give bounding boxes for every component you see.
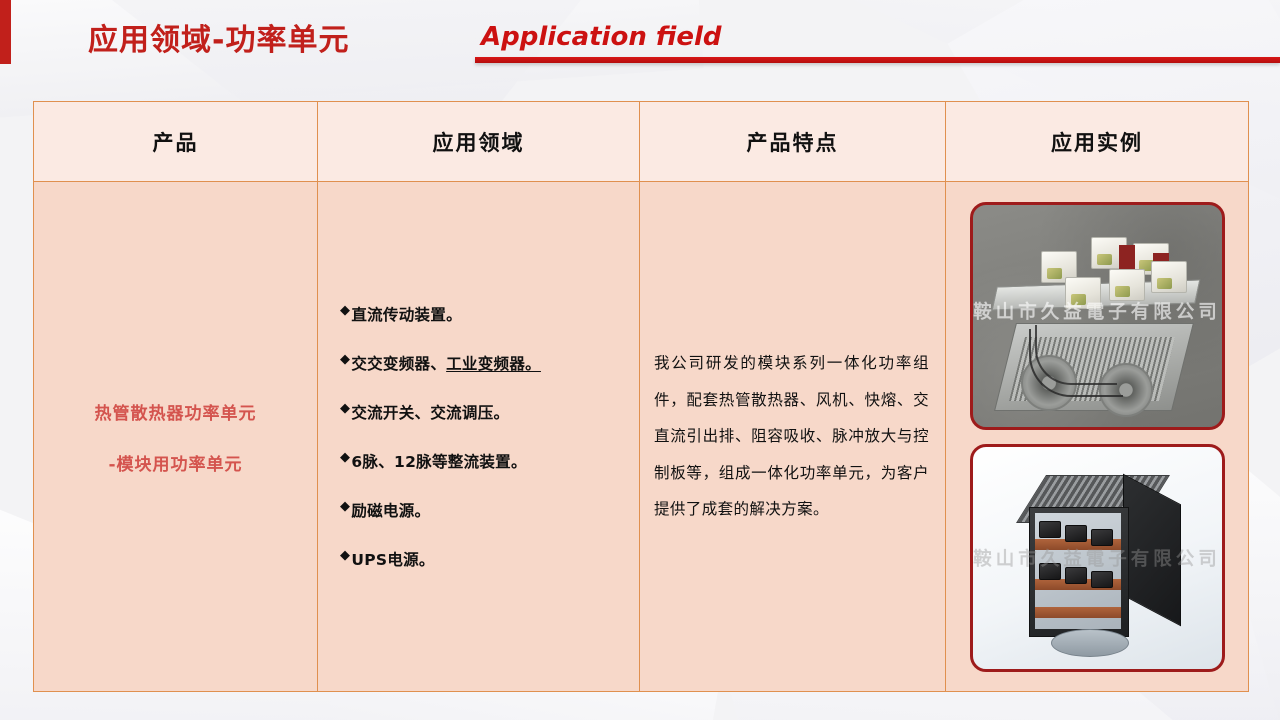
column-header-label: 产品	[34, 102, 317, 181]
table-cell-application-examples: 鞍山市久益電子有限公司 鞍山市久益	[945, 182, 1248, 691]
power-module-shape	[1039, 563, 1061, 580]
column-header-label: 产品特点	[640, 102, 945, 181]
list-item-text: 交交变频器、	[351, 352, 446, 374]
header-underline-rule	[475, 57, 1280, 63]
table-header-cell-features: 产品特点	[639, 102, 945, 181]
list-item: ◆ 励磁电源。	[340, 499, 639, 521]
list-item: ◆ 直流传动装置。	[340, 303, 639, 325]
list-item: ◆ UPS电源。	[340, 548, 639, 570]
list-item: ◆ 交交变频器、 工业变频器。	[340, 352, 639, 374]
page-title-chinese: 应用领域-功率单元	[88, 15, 349, 59]
power-module-shape	[1065, 567, 1087, 584]
table-cell-application-field: ◆ 直流传动装置。 ◆ 交交变频器、 工业变频器。 ◆ 交流开关、交流调压。 ◆…	[317, 182, 639, 691]
diamond-bullet-icon: ◆	[340, 450, 350, 466]
column-header-label: 应用领域	[318, 102, 639, 181]
application-field-table: 产品 应用领域 产品特点 应用实例 热管散热器功率单元 -模块用功率单元 ◆ 直…	[33, 101, 1249, 692]
table-header-cell-examples: 应用实例	[945, 102, 1248, 181]
fuse-module-shape	[1065, 277, 1101, 309]
power-module-shape	[1065, 525, 1087, 542]
column-header-label: 应用实例	[946, 102, 1248, 181]
list-item-text: 6脉、12脉等整流装置。	[351, 450, 526, 472]
fan-base-shape	[1051, 629, 1129, 657]
list-item: ◆ 6脉、12脉等整流装置。	[340, 450, 639, 472]
table-cell-product-features: 我公司研发的模块系列一体化功率组件，配套热管散热器、风机、快熔、交直流引出排、阻…	[639, 182, 945, 691]
product-features-paragraph: 我公司研发的模块系列一体化功率组件，配套热管散热器、风机、快熔、交直流引出排、阻…	[640, 345, 945, 527]
capacitor-block-shape	[1119, 245, 1135, 271]
power-module-shape	[1091, 571, 1113, 588]
example-photo-power-unit-assembly: 鞍山市久益電子有限公司	[970, 202, 1225, 430]
list-item: ◆ 交流开关、交流调压。	[340, 401, 639, 423]
page-title-english: Application field	[481, 22, 722, 52]
list-item-text: UPS电源。	[351, 548, 434, 570]
example-render-module-power-unit: 鞍山市久益電子有限公司	[970, 444, 1225, 672]
table-header-cell-field: 应用领域	[317, 102, 639, 181]
diamond-bullet-icon: ◆	[340, 499, 350, 515]
header-accent-bar	[0, 0, 11, 64]
table-body-row: 热管散热器功率单元 -模块用功率单元 ◆ 直流传动装置。 ◆ 交交变频器、 工业…	[34, 182, 1248, 691]
application-bullet-list: ◆ 直流传动装置。 ◆ 交交变频器、 工业变频器。 ◆ 交流开关、交流调压。 ◆…	[318, 182, 639, 691]
list-item-text-underlined: 工业变频器。	[446, 352, 541, 374]
diamond-bullet-icon: ◆	[340, 401, 350, 417]
list-item-text: 直流传动装置。	[351, 303, 462, 325]
table-header-row: 产品 应用领域 产品特点 应用实例	[34, 102, 1248, 182]
diamond-bullet-icon: ◆	[340, 352, 350, 368]
list-item-text: 励磁电源。	[351, 499, 430, 521]
list-item-text: 交流开关、交流调压。	[351, 401, 509, 423]
power-module-shape	[1039, 521, 1061, 538]
product-name-line-1: 热管散热器功率单元	[95, 399, 257, 424]
cable-shape	[1035, 325, 1117, 385]
fuse-module-shape	[1151, 261, 1187, 293]
power-module-shape	[1091, 529, 1113, 546]
diamond-bullet-icon: ◆	[340, 548, 350, 564]
table-header-cell-product: 产品	[34, 102, 317, 181]
enclosure-side-shape	[1123, 473, 1181, 626]
fuse-module-shape	[1109, 269, 1145, 301]
diamond-bullet-icon: ◆	[340, 303, 350, 319]
table-cell-product: 热管散热器功率单元 -模块用功率单元	[34, 182, 317, 691]
copper-busbar-shape	[1035, 607, 1121, 618]
product-name-line-2: -模块用功率单元	[108, 450, 242, 475]
